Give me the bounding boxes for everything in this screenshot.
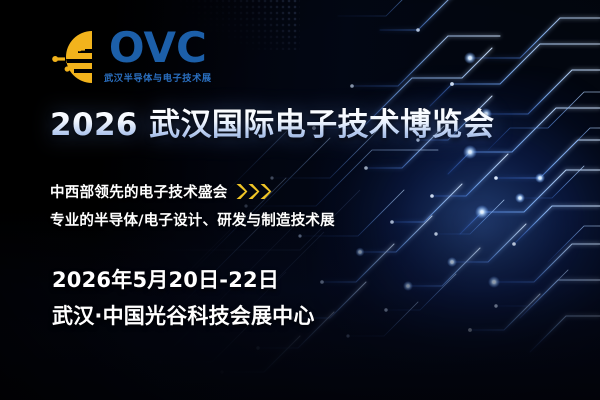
event-date: 2026年5月20日-22日 [52, 264, 279, 294]
tagline-primary: 中西部领先的电子技术盛会 [50, 181, 228, 202]
event-banner: OVC 武汉半导体与电子技术展 2026 武汉国际电子技术博览会 中西部领先的电… [0, 0, 600, 400]
logo-wordmark: OVC [109, 28, 207, 68]
tagline-secondary: 专业的半导体/电子设计、研发与制造技术展 [50, 209, 335, 230]
circuit-semicircle-icon [52, 29, 100, 85]
chevron-group [235, 183, 271, 200]
chevron-right-icon [259, 183, 272, 200]
ovc-logo[interactable]: OVC 武汉半导体与电子技术展 [52, 28, 212, 85]
tagline-primary-row: 中西部领先的电子技术盛会 [50, 181, 271, 202]
event-venue: 武汉·中国光谷科技会展中心 [52, 300, 315, 330]
logo-subtitle: 武汉半导体与电子技术展 [104, 70, 212, 84]
page-title: 2026 武汉国际电子技术博览会 [50, 108, 494, 142]
